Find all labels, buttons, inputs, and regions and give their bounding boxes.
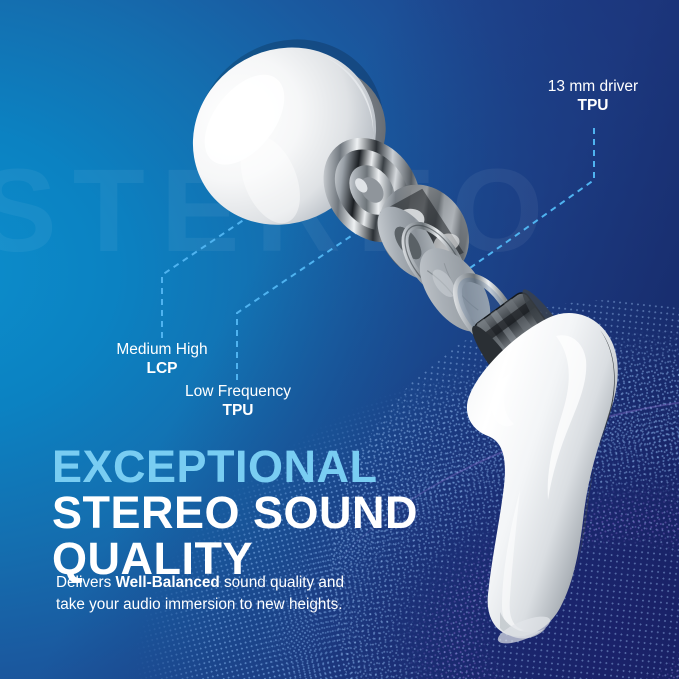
callout-medium-high-line2: LCP (97, 360, 227, 379)
subcopy-emphasis: Well-Balanced (116, 574, 220, 591)
callout-low-frequency-line1: Low Frequency (167, 383, 309, 402)
headline-line-2: STEREO SOUND (52, 492, 472, 535)
callout-driver: 13 mm driver TPU (528, 78, 658, 116)
callout-driver-line1: 13 mm driver (528, 78, 658, 97)
callout-low-frequency-line2: TPU (167, 402, 309, 421)
headline-block: EXCEPTIONAL STEREO SOUND QUALITY (52, 446, 472, 580)
watermark-text: STEREO (0, 152, 559, 270)
callout-medium-high: Medium High LCP (97, 341, 227, 379)
subcopy-paragraph: Delivers Well-Balanced sound quality and… (56, 572, 356, 615)
callout-low-frequency: Low Frequency TPU (167, 383, 309, 421)
headline-line-1: EXCEPTIONAL (52, 446, 472, 489)
callout-driver-line2: TPU (528, 97, 658, 116)
callout-medium-high-line1: Medium High (97, 341, 227, 360)
product-infographic: STEREO (0, 0, 679, 679)
subcopy-prefix: Delivers (56, 574, 116, 591)
